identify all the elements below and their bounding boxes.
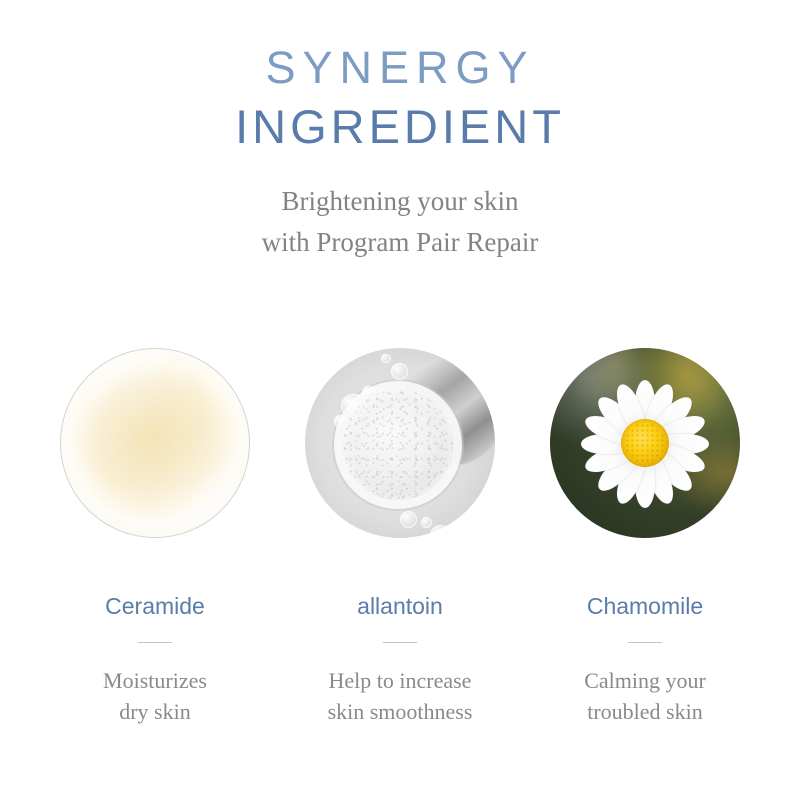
- ingredient-description-allantoin: Help to increase skin smoothness: [328, 665, 473, 727]
- bubble-icon: [400, 511, 417, 528]
- chamomile-flower-image: [550, 348, 740, 538]
- bubble-icon: [381, 354, 391, 364]
- ingredient-columns: Ceramide Moisturizes dry skin: [0, 348, 800, 727]
- bubble-icon: [341, 394, 366, 419]
- flower-center: [621, 419, 669, 467]
- divider-chamomile: [628, 642, 662, 643]
- ingredient-description-line-1: Calming your: [584, 665, 706, 696]
- bubble-icon: [421, 517, 432, 528]
- bubble-icon: [391, 363, 408, 380]
- ceramide-balm-jar-image: [60, 348, 250, 538]
- ingredient-card-allantoin: allantoin Help to increase skin smoothne…: [278, 348, 523, 727]
- ingredient-name-allantoin: allantoin: [357, 595, 443, 618]
- ingredient-card-ceramide: Ceramide Moisturizes dry skin: [33, 348, 278, 727]
- bubble-icon: [430, 525, 451, 538]
- divider-ceramide: [138, 642, 172, 643]
- divider-allantoin: [383, 642, 417, 643]
- bubble-icon: [334, 415, 347, 428]
- subtitle-line-2: with Program Pair Repair: [0, 222, 800, 263]
- ingredient-card-chamomile: Chamomile Calming your troubled skin: [523, 348, 768, 727]
- ingredient-description-chamomile: Calming your troubled skin: [584, 665, 706, 727]
- ingredient-name-chamomile: Chamomile: [587, 595, 703, 618]
- ingredient-name-ceramide: Ceramide: [105, 595, 205, 618]
- ingredient-description-line-2: troubled skin: [584, 696, 706, 727]
- ingredient-description-line-2: dry skin: [103, 696, 207, 727]
- ingredient-description-line-1: Moisturizes: [103, 665, 207, 696]
- subtitle-line-1: Brightening your skin: [0, 181, 800, 222]
- ingredient-description-line-1: Help to increase: [328, 665, 473, 696]
- allantoin-gel-particle-image: [305, 348, 495, 538]
- ingredient-description-line-2: skin smoothness: [328, 696, 473, 727]
- page-title-line-1: SYNERGY: [0, 44, 800, 93]
- page-title-line-2: INGREDIENT: [0, 99, 800, 155]
- synergy-ingredient-infographic: SYNERGY INGREDIENT Brightening your skin…: [0, 0, 800, 800]
- header: SYNERGY INGREDIENT Brightening your skin…: [0, 44, 800, 263]
- ingredient-description-ceramide: Moisturizes dry skin: [103, 665, 207, 727]
- subtitle: Brightening your skin with Program Pair …: [0, 181, 800, 263]
